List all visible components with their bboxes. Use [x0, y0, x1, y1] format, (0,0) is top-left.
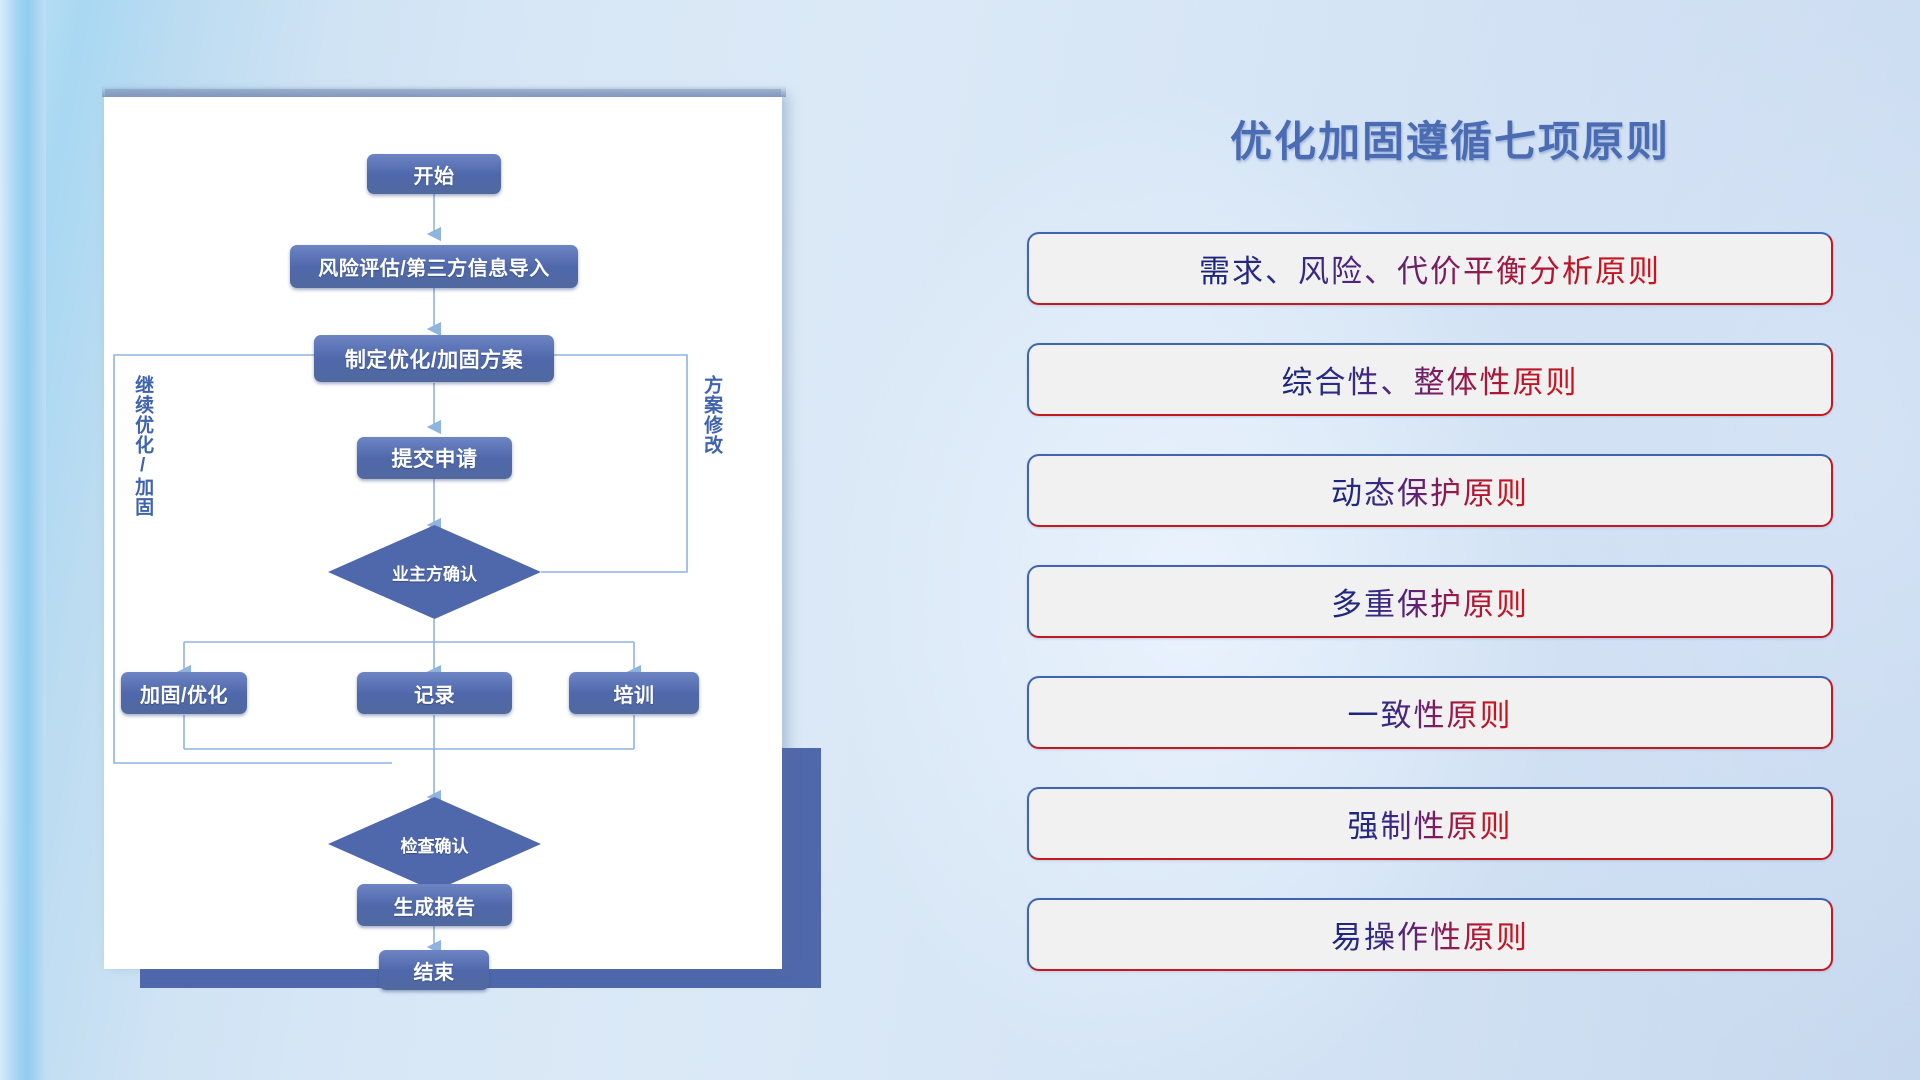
principles-card-list: 需求、风险、代价平衡分析原则 综合性、整体性原则 动态保护原则 多重保护原则 一… — [1027, 232, 1833, 1009]
principles-section: 优化加固遵循七项原则 需求、风险、代价平衡分析原则 综合性、整体性原则 动态保护… — [1020, 0, 1880, 1080]
principle-card[interactable]: 综合性、整体性原则 — [1027, 343, 1833, 416]
flow-node-generate-report[interactable]: 生成报告 — [357, 884, 512, 926]
flow-node-label: 业主方确认 — [392, 560, 477, 585]
flow-node-submit-application[interactable]: 提交申请 — [357, 437, 512, 479]
flow-node-label: 制定优化/加固方案 — [345, 344, 523, 374]
flow-node-label: 风险评估/第三方信息导入 — [318, 252, 550, 281]
principle-card[interactable]: 一致性原则 — [1027, 676, 1833, 749]
principle-label: 动态保护原则 — [1331, 468, 1529, 513]
principle-label: 一致性原则 — [1348, 690, 1513, 735]
principle-card[interactable]: 易操作性原则 — [1027, 898, 1833, 971]
flow-node-reinforce[interactable]: 加固/优化 — [121, 672, 247, 714]
flowchart-panel: 开始 风险评估/第三方信息导入 制定优化/加固方案 提交申请 业主方确认 加固/… — [104, 97, 782, 969]
edge-label-continue-optimize: 继续优化/加固 — [132, 375, 152, 517]
flow-node-label: 结束 — [414, 956, 455, 985]
principle-label: 易操作性原则 — [1331, 912, 1529, 957]
edge-label-plan-revision: 方案修改 — [701, 375, 721, 455]
flow-node-end[interactable]: 结束 — [379, 950, 489, 990]
principle-card[interactable]: 多重保护原则 — [1027, 565, 1833, 638]
slide-root: 开始 风险评估/第三方信息导入 制定优化/加固方案 提交申请 业主方确认 加固/… — [0, 0, 1920, 1080]
principle-card[interactable]: 需求、风险、代价平衡分析原则 — [1027, 232, 1833, 305]
flow-node-label: 加固/优化 — [140, 679, 228, 708]
principle-card[interactable]: 动态保护原则 — [1027, 454, 1833, 527]
flow-node-plan[interactable]: 制定优化/加固方案 — [314, 335, 554, 382]
flow-node-label: 提交申请 — [392, 443, 478, 473]
flow-node-label: 开始 — [414, 160, 455, 189]
principle-label: 多重保护原则 — [1331, 579, 1529, 624]
principles-title: 优化加固遵循七项原则 — [1020, 108, 1880, 169]
flow-node-label: 记录 — [414, 679, 455, 708]
principle-card[interactable]: 强制性原则 — [1027, 787, 1833, 860]
flow-node-label: 生成报告 — [394, 891, 476, 920]
principle-label: 需求、风险、代价平衡分析原则 — [1199, 246, 1661, 291]
flow-node-label: 检查确认 — [401, 832, 469, 857]
flow-node-start[interactable]: 开始 — [367, 154, 501, 194]
principle-label: 强制性原则 — [1348, 801, 1513, 846]
flow-node-risk-assessment[interactable]: 风险评估/第三方信息导入 — [290, 245, 578, 288]
flow-node-training[interactable]: 培训 — [569, 672, 699, 714]
principle-label: 综合性、整体性原则 — [1282, 357, 1579, 402]
flow-node-label: 培训 — [614, 679, 655, 708]
flow-node-record[interactable]: 记录 — [357, 672, 512, 714]
